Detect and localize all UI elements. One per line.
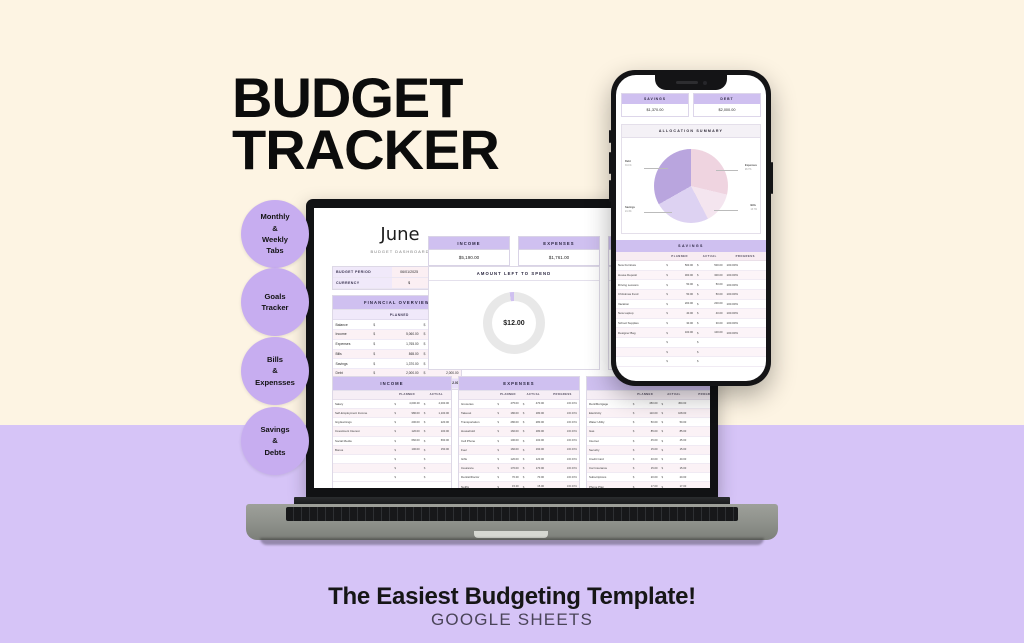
cell-actual: 300.00 [701,270,725,280]
table-row: Netflix$15.00$15.00100.00% [459,482,579,488]
kpi-expenses-value: $1,761.00 [519,250,599,265]
col-planned: PLANNED [392,391,421,399]
table-row-empty: $$ [616,337,766,347]
row-label: Netflix [459,482,495,488]
expenses-table-title: EXPENSES [459,377,579,391]
expenses-table-panel: EXPENSES PLANNED ACTUAL PROGRESS Groceri… [458,376,580,488]
cell-progress: 100.00% [546,436,579,445]
phone-kpi-savings: SAVINGS $1,370.00 [621,93,689,117]
cell-progress: 100.00% [546,482,579,488]
cell-planned: 200.00 [398,418,422,427]
cell-actual: 160.00 [526,445,546,454]
row-label: House Deposit [616,270,664,280]
cell-planned: 70.00 [501,473,521,482]
col-planned: PLANNED [378,310,421,320]
cell-actual: 50.00 [701,289,725,299]
feature-badge-monthly-weekly-tabs[interactable]: Monthly & Weekly Tabs [241,200,309,268]
table-row: Subscriptions$20.00$20.00100.00% [587,473,710,482]
cell-progress: 100.00% [688,408,710,417]
row-label: Insurance [459,464,495,473]
row-label: Driving Lessons [616,280,664,290]
row-label: Bills [333,349,371,359]
col-blank [333,391,392,399]
col-actual: ACTUAL [521,391,546,399]
cell-actual: 180.00 [526,408,546,417]
table-row: New Laptop$40.00$40.00100.00% [616,309,766,319]
bills-table-panel: BILLS PLANNED ACTUAL PROGRESS Rent/Mortg… [586,376,710,488]
col-blank [587,391,631,399]
phone-mute-switch [609,130,611,143]
row-label: Internet [587,436,631,445]
cell-progress: 100.00% [546,445,579,454]
cell-actual: 220.00 [427,418,451,427]
cell-planned: 110.00 [636,408,659,417]
row-label: New Laptop [616,309,664,319]
col-blank [459,391,495,399]
cell-actual: 15.00 [526,482,546,488]
col-planned: PLANNED [495,391,520,399]
cell-planned: 300.00 [670,270,695,280]
table-row: Salary$4,000.00$4,000.00 [333,399,451,408]
table-row-empty: $$ [333,473,451,482]
speaker-icon [676,81,698,84]
table-row: Phone Plan$17.00$17.00100.00% [587,482,710,488]
table-row: Investment Interest$120.00$100.00 [333,427,451,436]
kpi-expenses-label: EXPENSES [519,237,599,250]
row-label: Subscriptions [587,473,631,482]
col-progress: PROGRESS [546,391,579,399]
row-label: School Supplies [616,318,664,328]
table-row: House Deposit$300.00$300.00100.00% [616,270,766,280]
budget-period-start: 06/01/2025 [392,267,427,277]
tagline-primary: The Easiest Budgeting Template! [0,583,1024,611]
cell-actual: 40.00 [665,454,688,463]
table-row-empty: $$ [616,357,766,367]
row-label: New Furniture [616,261,664,271]
pie-label-debt: Debt 33.1% [625,160,632,168]
currency-label: CURRENCY [333,278,392,288]
cell-actual: 50.00 [665,418,688,427]
cell-planned: 50.00 [670,289,695,299]
row-label: Expenses [333,339,371,349]
feature-badge-label: Bills & Expensses [255,354,295,388]
row-label: Gifts [459,454,495,463]
table-row: Household$160.00$180.00100.00% [459,427,579,436]
table-row: Fuel$160.00$160.00100.00% [459,445,579,454]
table-row: Vacation$200.00$200.00100.00% [616,299,766,309]
kpi-card-income: INCOME $5,190.00 [428,236,510,266]
cell-actual: 20.00 [665,473,688,482]
poster-canvas: BUDGET TRACKER June BUDGET DASHBOARD INC… [0,0,1024,643]
cell-progress: 100.00% [688,418,710,427]
cell-actual: 450.00 [665,399,688,408]
table-row: Christmas Fund$50.00$50.00100.00% [616,289,766,299]
phone-kpi-debt-label: DEBT [694,94,760,104]
phone-savings-band: SAVINGS [616,240,766,252]
table-row-empty: $$ [333,464,451,473]
table-row: Credit Card$40.00$40.00100.00% [587,454,710,463]
row-label: Cell Phone [459,436,495,445]
row-label: Dentist/Doctor [459,473,495,482]
cell-actual: 15.00 [665,464,688,473]
row-label: Takeout [459,408,495,417]
cell-planned: 160.00 [501,427,521,436]
table-header-row: PLANNED ACTUAL PROGRESS [459,391,579,399]
cell-planned: 20.00 [636,473,659,482]
cell-progress: 100.00% [688,464,710,473]
cell-planned: 1,765.00 [378,339,421,349]
cell-actual: 108.00 [665,408,688,417]
title-line-2: TRACKER [232,124,662,176]
col-actual: ACTUAL [660,391,689,399]
row-label: Electricity [587,408,631,417]
camera-icon [703,81,707,85]
row-label: Salary [333,399,392,408]
cell-progress: 100.00% [546,473,579,482]
cell-planned: 4,000.00 [398,399,422,408]
row-label: Rent/Mortgage [587,399,631,408]
feature-badge-label: Goals Tracker [261,291,288,314]
row-label: Investment Interest [333,427,392,436]
row-label: Bonus [333,445,392,454]
cell-planned: 40.00 [670,309,695,319]
cell-planned: 1,370.00 [378,359,421,369]
laptop-keyboard [286,507,738,521]
phone-mockup: SAVINGS $1,370.00 DEBT $2,000.00 ALLOCAT… [611,70,771,386]
col-progress: PROGRESS [725,252,766,261]
row-label: Vacation [616,299,664,309]
table-row: Driving Lessons$50.00$50.00100.00% [616,280,766,290]
table-row: Social Media$660.00$660.00 [333,436,451,445]
income-table-panel: INCOME PLANNED ACTUAL Salary$4,000.00$4,… [332,376,452,488]
cell-planned: 17.00 [636,482,659,488]
donut-value: $12.00 [503,320,524,327]
phone-power-button [771,162,773,194]
cell-planned [378,320,421,330]
table-row: Gifts$120.00$120.00100.00% [459,454,579,463]
col-progress: PROGRESS [688,391,710,399]
cell-progress: 100.00% [546,418,579,427]
row-label: Car Insurance [587,464,631,473]
cell-planned: 500.00 [670,261,695,271]
kpi-income-label: INCOME [429,237,509,250]
cell-actual: 660.00 [427,436,451,445]
cell-actual: 50.00 [701,280,725,290]
cell-planned: 100.00 [670,328,695,338]
cell-actual: 120.00 [526,454,546,463]
page-title: BUDGET TRACKER [232,72,662,176]
feature-badge-label: Savings & Debts [260,424,289,458]
cell-planned: 280.00 [501,418,521,427]
cell-planned: 50.00 [670,280,695,290]
bills-table: PLANNED ACTUAL PROGRESS Rent/Mortgage$45… [587,391,710,488]
row-label: Water Utility [587,418,631,427]
table-header-row: PLANNED ACTUAL PROGRESS [616,252,766,261]
cell-planned: 120.00 [398,427,422,436]
tagline-secondary: GOOGLE SHEETS [0,610,1024,630]
row-label: Security [587,445,631,454]
phone-dashboard: SAVINGS $1,370.00 DEBT $2,000.00 ALLOCAT… [616,75,766,367]
col-planned: PLANNED [664,252,695,261]
table-row: Water Utility$50.00$50.00100.00% [587,418,710,427]
cell-actual: 200.00 [701,299,725,309]
pie-label-savings: Savings 24.4% [625,206,635,214]
row-label: Christmas Fund [616,289,664,299]
cell-progress: 100.00% [725,280,766,290]
row-label: Credit Card [587,454,631,463]
allocation-pie-chart: Expenses 28.7% Bills 13.7% Savings 24.4%… [621,138,761,234]
cell-progress: 100.00% [725,328,766,338]
row-label: Savings [333,359,371,369]
row-label: Phone Plan [587,482,631,488]
cell-planned: 30.00 [670,318,695,328]
phone-kpi-savings-value: $1,370.00 [622,104,688,116]
phone-kpi-debt-value: $2,000.00 [694,104,760,116]
cell-actual: 1,100.00 [427,408,451,417]
cell-planned: 100.00 [398,445,422,454]
cell-planned: 5,060.00 [378,329,421,339]
cell-progress: 100.00% [725,318,766,328]
feature-badge-goals-tracker[interactable]: Goals Tracker [241,268,309,336]
cell-planned: 980.00 [398,408,422,417]
row-label: Income [333,329,371,339]
table-row: Insurance$170.00$170.00100.00% [459,464,579,473]
cell-progress: 100.00% [546,399,579,408]
cell-progress: 100.00% [688,427,710,436]
row-label: Social Media [333,436,392,445]
phone-screen: SAVINGS $1,370.00 DEBT $2,000.00 ALLOCAT… [616,75,766,381]
cell-actual: 17.00 [665,482,688,488]
cell-planned: 450.00 [636,399,659,408]
cell-actual: 100.00 [427,427,451,436]
cell-progress: 100.00% [725,309,766,319]
table-header-row: PLANNED ACTUAL [333,391,451,399]
income-table-title: INCOME [333,377,451,391]
laptop-trackpad-notch [474,531,548,538]
kpi-income-value: $5,190.00 [429,250,509,265]
table-row: Electricity$110.00$108.00100.00% [587,408,710,417]
pie-label-bills: Bills 13.7% [750,204,757,212]
feature-badge-savings-debts[interactable]: Savings & Debts [241,407,309,475]
table-row: Transportation$280.00$280.00100.00% [459,418,579,427]
cell-actual: 280.00 [526,418,546,427]
allocation-summary-title: ALLOCATION SUMMARY [621,124,761,138]
feature-badge-label: Monthly & Weekly Tabs [260,211,289,257]
table-row: School Supplies$30.00$30.00100.00% [616,318,766,328]
cell-planned: 50.00 [636,418,659,427]
phone-volume-up-button [609,152,611,174]
table-row: Self-Employment Income$980.00$1,100.00 [333,408,451,417]
cell-actual: 500.00 [701,261,725,271]
cell-progress: 100.00% [688,454,710,463]
row-label: Balance [333,320,371,330]
cell-actual: 45.00 [665,436,688,445]
cell-planned: 15.00 [636,445,659,454]
table-row: Gas$85.00$85.00100.00% [587,427,710,436]
cell-progress: 100.00% [546,427,579,436]
expenses-table: PLANNED ACTUAL PROGRESS Groceries$475.00… [459,391,579,488]
row-label: Transportation [459,418,495,427]
table-row: Bonus$100.00$150.00 [333,445,451,454]
table-row: Security$15.00$15.00100.00% [587,445,710,454]
table-row: Car Insurance$15.00$15.00100.00% [587,464,710,473]
cell-planned: 865.00 [378,349,421,359]
phone-kpi-debt: DEBT $2,000.00 [693,93,761,117]
currency-value: $ [392,278,427,288]
kpi-card-expenses: EXPENSES $1,761.00 [518,236,600,266]
row-label: Gig Earnings [333,418,392,427]
phone-notch [655,75,727,90]
cell-actual: 180.00 [526,427,546,436]
cell-progress: 100.00% [725,289,766,299]
row-label: Household [459,427,495,436]
col-actual: ACTUAL [422,391,451,399]
cell-actual: 15.00 [665,445,688,454]
row-label: Gas [587,427,631,436]
table-row: Internet$45.00$45.00100.00% [587,436,710,445]
donut-chart: $12.00 [429,281,599,365]
cell-progress: 100.00% [688,436,710,445]
income-table: PLANNED ACTUAL Salary$4,000.00$4,000.00S… [333,391,451,482]
cell-actual: 170.00 [526,464,546,473]
table-row: Groceries$475.00$470.00100.00% [459,399,579,408]
cell-planned: 200.00 [670,299,695,309]
cell-planned: 100.00 [501,436,521,445]
cell-actual: 85.00 [665,427,688,436]
cell-progress: 100.00% [688,399,710,408]
cell-progress: 100.00% [688,445,710,454]
cell-progress: 100.00% [725,270,766,280]
cell-planned: 475.00 [501,399,521,408]
table-row: Dentist/Doctor$70.00$70.00100.00% [459,473,579,482]
table-row: Rent/Mortgage$450.00$450.00100.00% [587,399,710,408]
laptop-base-shadow [260,538,764,545]
cell-planned: 180.00 [501,408,521,417]
pie-label-expenses: Expenses 28.7% [745,164,757,172]
cell-progress: 100.00% [725,299,766,309]
budget-period-label: BUDGET PERIOD [333,267,392,277]
donut-ring: $12.00 [483,292,545,354]
table-row: Gig Earnings$200.00$220.00 [333,418,451,427]
cell-actual: 100.00 [701,328,725,338]
phone-kpi-row: SAVINGS $1,370.00 DEBT $2,000.00 [616,93,766,117]
row-label: Fuel [459,445,495,454]
row-label: Groceries [459,399,495,408]
table-row-empty: $$ [333,454,451,463]
table-row: Takeout$180.00$180.00100.00% [459,408,579,417]
cell-planned: 15.00 [501,482,521,488]
row-label: Designer Bag [616,328,664,338]
cell-progress: 100.00% [546,464,579,473]
cell-planned: 85.00 [636,427,659,436]
cell-progress: 100.00% [688,473,710,482]
cell-planned: 160.00 [501,445,521,454]
phone-volume-down-button [609,180,611,202]
cell-progress: 100.00% [546,408,579,417]
cell-actual: 4,000.00 [427,399,451,408]
phone-savings-table: PLANNED ACTUAL PROGRESS New Furniture$50… [616,252,766,367]
cell-actual: 470.00 [526,399,546,408]
amount-left-panel: AMOUNT LEFT TO SPEND $12.00 [428,266,600,370]
cell-planned: 15.00 [636,464,659,473]
cell-planned: 40.00 [636,454,659,463]
col-blank [333,310,378,320]
cell-actual: 100.00 [526,436,546,445]
phone-kpi-savings-label: SAVINGS [622,94,688,104]
col-actual: ACTUAL [695,252,724,261]
cell-actual: 70.00 [526,473,546,482]
col-planned: PLANNED [631,391,660,399]
cell-planned: 120.00 [501,454,521,463]
row-label: Self-Employment Income [333,408,392,417]
cell-progress: 100.00% [688,482,710,488]
feature-badge-bills-expenses[interactable]: Bills & Expensses [241,337,309,405]
cell-planned: 170.00 [501,464,521,473]
cell-actual: 40.00 [701,309,725,319]
table-row: Designer Bag$100.00$100.00100.00% [616,328,766,338]
cell-actual: 150.00 [427,445,451,454]
table-row: Cell Phone$100.00$100.00100.00% [459,436,579,445]
col-blank [616,252,664,261]
table-row-empty: $$ [616,347,766,357]
amount-left-title: AMOUNT LEFT TO SPEND [429,267,599,281]
cell-actual: 30.00 [701,318,725,328]
cell-planned: 45.00 [636,436,659,445]
cell-planned: 660.00 [398,436,422,445]
cell-progress: 100.00% [546,454,579,463]
table-header-row: PLANNED ACTUAL PROGRESS [587,391,710,399]
table-row: New Furniture$500.00$500.00100.00% [616,261,766,271]
cell-progress: 100.00% [725,261,766,271]
